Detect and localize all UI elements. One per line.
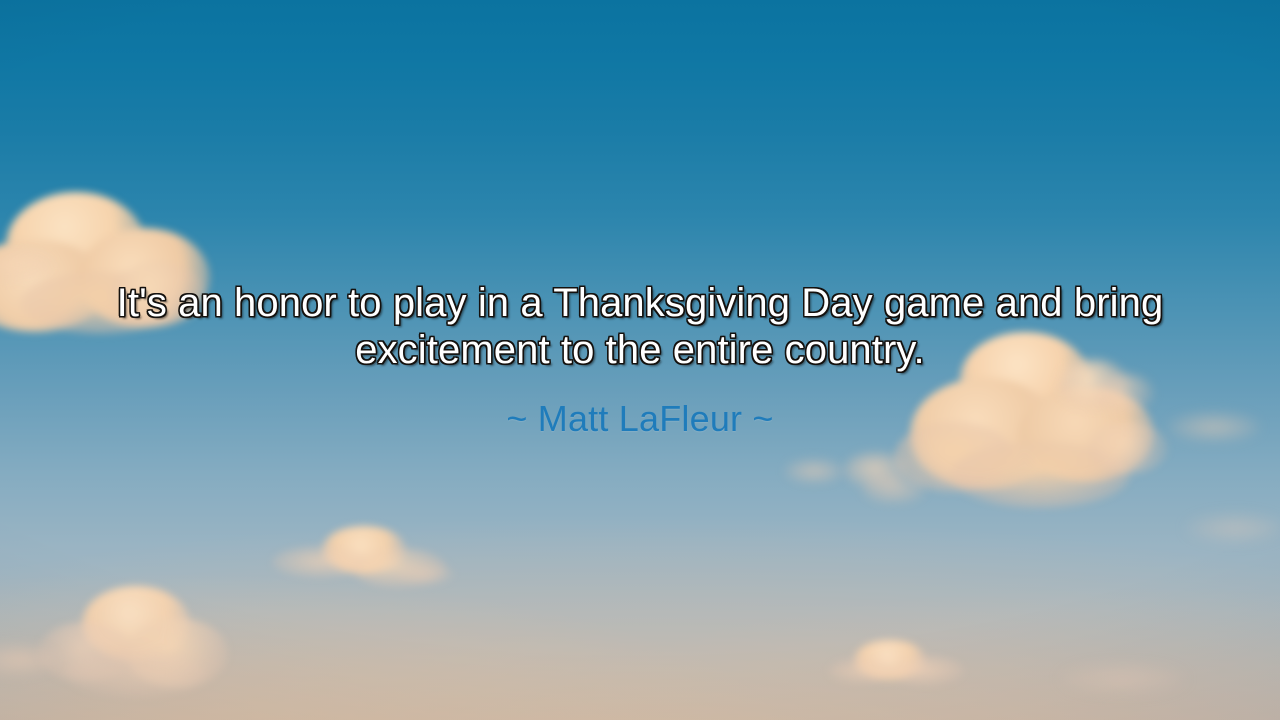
quote-overlay: It's an honor to play in a Thanksgiving … xyxy=(0,0,1280,720)
quote-attribution: ~ Matt LaFleur ~ xyxy=(100,398,1180,440)
quote-text: It's an honor to play in a Thanksgiving … xyxy=(100,280,1180,374)
quote-card: It's an honor to play in a Thanksgiving … xyxy=(0,0,1280,720)
quote-block: It's an honor to play in a Thanksgiving … xyxy=(100,280,1180,440)
